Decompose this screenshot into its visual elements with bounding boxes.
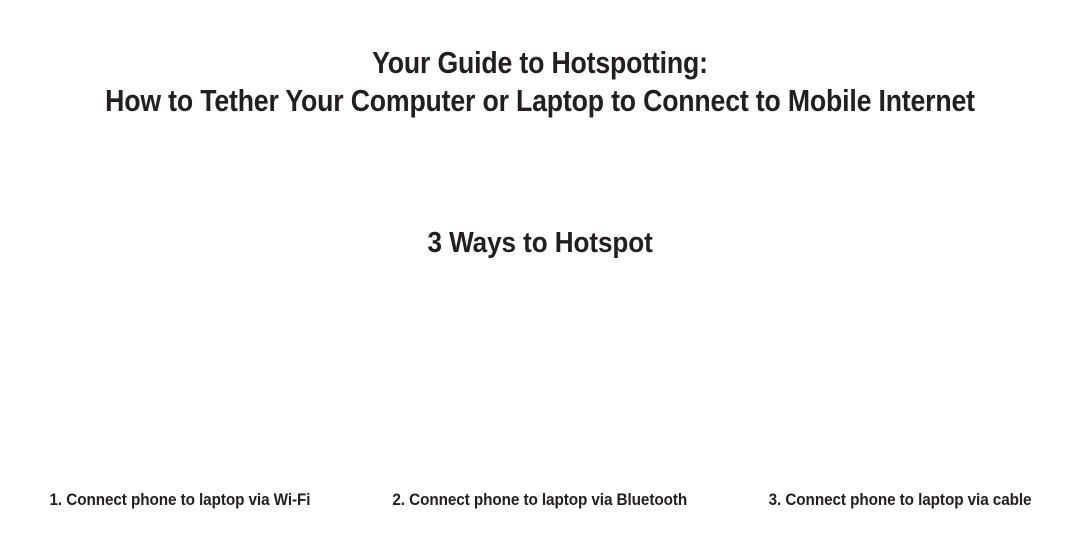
caption-wifi: 1. Connect phone to laptop via Wi-Fi bbox=[50, 489, 311, 511]
caption-row: 1. Connect phone to laptop via Wi-Fi 2. … bbox=[0, 486, 1080, 514]
section-heading-text: 3 Ways to Hotspot bbox=[427, 224, 652, 262]
title-line-2: How to Tether Your Computer or Laptop to… bbox=[76, 82, 1005, 120]
infographic-page: Your Guide to Hotspotting: How to Tether… bbox=[0, 0, 1080, 552]
page-title: Your Guide to Hotspotting: How to Tether… bbox=[0, 44, 1080, 120]
illustration-row bbox=[0, 284, 1080, 480]
caption-cell-2: 2. Connect phone to laptop via Bluetooth bbox=[360, 486, 720, 514]
illustration-slot-cable bbox=[720, 284, 1080, 480]
section-heading: 3 Ways to Hotspot bbox=[0, 224, 1080, 262]
caption-bluetooth: 2. Connect phone to laptop via Bluetooth bbox=[393, 489, 688, 511]
illustration-slot-wifi bbox=[0, 284, 360, 480]
illustration-slot-bluetooth bbox=[360, 284, 720, 480]
title-line-1: Your Guide to Hotspotting: bbox=[76, 44, 1005, 82]
caption-cable: 3. Connect phone to laptop via cable bbox=[769, 489, 1032, 511]
caption-cell-1: 1. Connect phone to laptop via Wi-Fi bbox=[0, 486, 360, 514]
caption-cell-3: 3. Connect phone to laptop via cable bbox=[720, 486, 1080, 514]
